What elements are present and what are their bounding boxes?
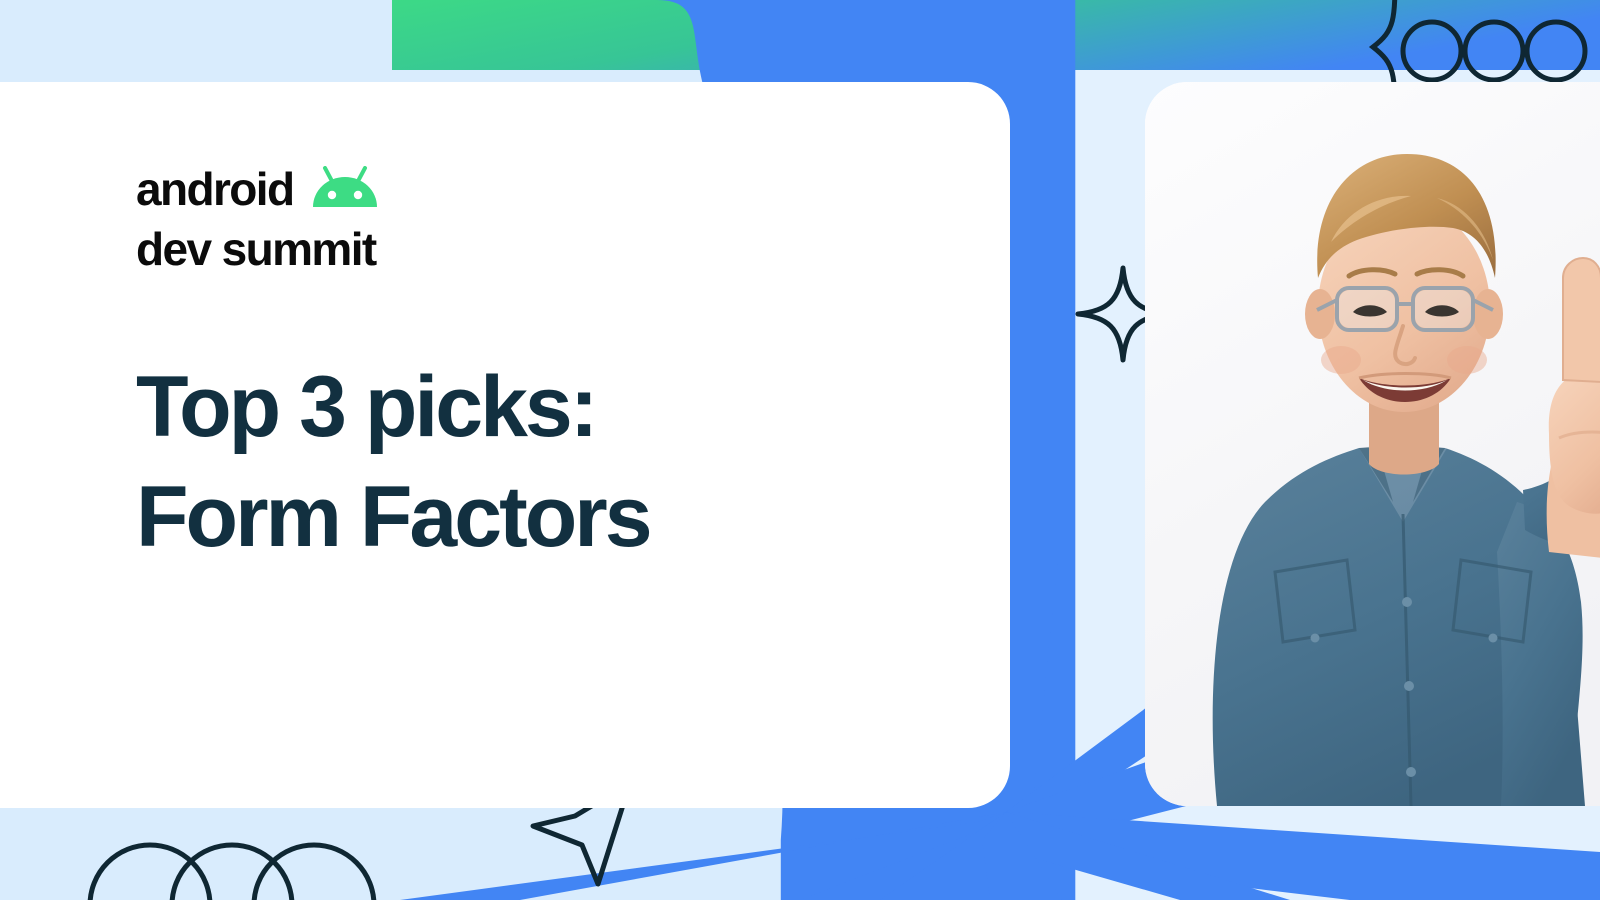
logo-text-dev-summit: dev summit — [136, 220, 376, 278]
logo-text-android: android — [136, 160, 293, 218]
speaker-portrait — [1145, 82, 1600, 806]
brand-logo-lockup: android dev summit — [136, 160, 381, 278]
headline-line-1: Top 3 picks: — [136, 352, 650, 462]
speaker-photo-card — [1145, 82, 1600, 806]
logo-line-android: android — [136, 160, 381, 218]
android-robot-icon — [309, 166, 381, 208]
logo-line-dev-summit: dev summit — [136, 220, 381, 278]
page-title: Top 3 picks: Form Factors — [136, 352, 650, 572]
headline-line-2: Form Factors — [136, 462, 650, 572]
slide-stage: android dev summit Top 3 picks: Form Fac… — [0, 0, 1600, 900]
